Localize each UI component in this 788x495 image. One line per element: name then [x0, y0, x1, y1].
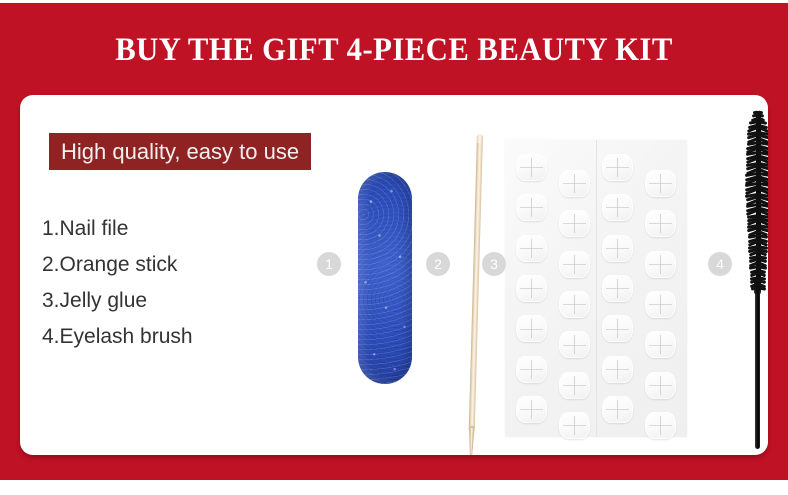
list-item: 1.Nail file — [42, 211, 322, 247]
badge-3: 3 — [482, 252, 506, 276]
promo-banner: BUY THE GIFT 4-PIECE BEAUTY KIT High qua… — [0, 0, 788, 495]
glue-tab — [602, 356, 633, 383]
glue-tab — [602, 194, 633, 221]
glue-tab-grid — [511, 147, 681, 430]
glue-tab-column — [554, 147, 595, 446]
glue-tab — [516, 194, 547, 221]
glue-tab — [645, 291, 676, 318]
list-item: 4.Eyelash brush — [42, 319, 322, 355]
product-card: High quality, easy to use 1.Nail file 2.… — [20, 95, 768, 455]
glue-tab — [516, 356, 547, 383]
eyelash-brush-head — [745, 105, 768, 291]
glue-tab — [559, 412, 590, 439]
quality-banner-label: High quality, easy to use — [61, 141, 299, 163]
badge-4: 4 — [708, 252, 732, 276]
eyelash-brush-handle — [755, 286, 760, 449]
product-nail-file — [358, 172, 412, 384]
glue-tab — [645, 170, 676, 197]
glue-tab — [645, 251, 676, 278]
list-item: 3.Jelly glue — [42, 283, 322, 319]
glue-tab — [559, 372, 590, 399]
badge-2: 2 — [426, 252, 450, 276]
glue-tab — [602, 235, 633, 262]
glue-tab — [602, 315, 633, 342]
bottom-white-strip — [0, 480, 788, 495]
glue-tab — [559, 251, 590, 278]
glue-tab — [645, 412, 676, 439]
glue-tab — [516, 315, 547, 342]
glue-tab-column — [597, 147, 638, 430]
glue-tab — [645, 372, 676, 399]
glue-tab — [602, 154, 633, 181]
glue-tab — [516, 275, 547, 302]
product-orange-stick — [466, 134, 484, 455]
glue-tab-column — [640, 147, 681, 446]
glue-tab — [559, 331, 590, 358]
badge-1: 1 — [317, 252, 341, 276]
page-title: BUY THE GIFT 4-PIECE BEAUTY KIT — [28, 30, 761, 70]
glue-tab — [516, 235, 547, 262]
glue-tab-column — [511, 147, 552, 430]
glue-tab — [645, 210, 676, 237]
glue-tab — [559, 210, 590, 237]
quality-banner: High quality, easy to use — [49, 133, 311, 170]
orange-stick-flat-tip — [477, 134, 483, 143]
glue-tab — [559, 291, 590, 318]
feature-list: 1.Nail file 2.Orange stick 3.Jelly glue … — [42, 211, 322, 355]
glue-tab — [516, 154, 547, 181]
orange-stick-body — [469, 134, 483, 430]
glue-tab — [602, 275, 633, 302]
glue-tab — [645, 331, 676, 358]
product-eyelash-brush — [738, 100, 768, 455]
orange-stick-point-tip — [468, 426, 475, 455]
glue-tab — [602, 396, 633, 423]
product-jelly-glue-sheet — [505, 140, 687, 437]
list-item: 2.Orange stick — [42, 247, 322, 283]
glue-tab — [559, 170, 590, 197]
glue-tab — [516, 396, 547, 423]
